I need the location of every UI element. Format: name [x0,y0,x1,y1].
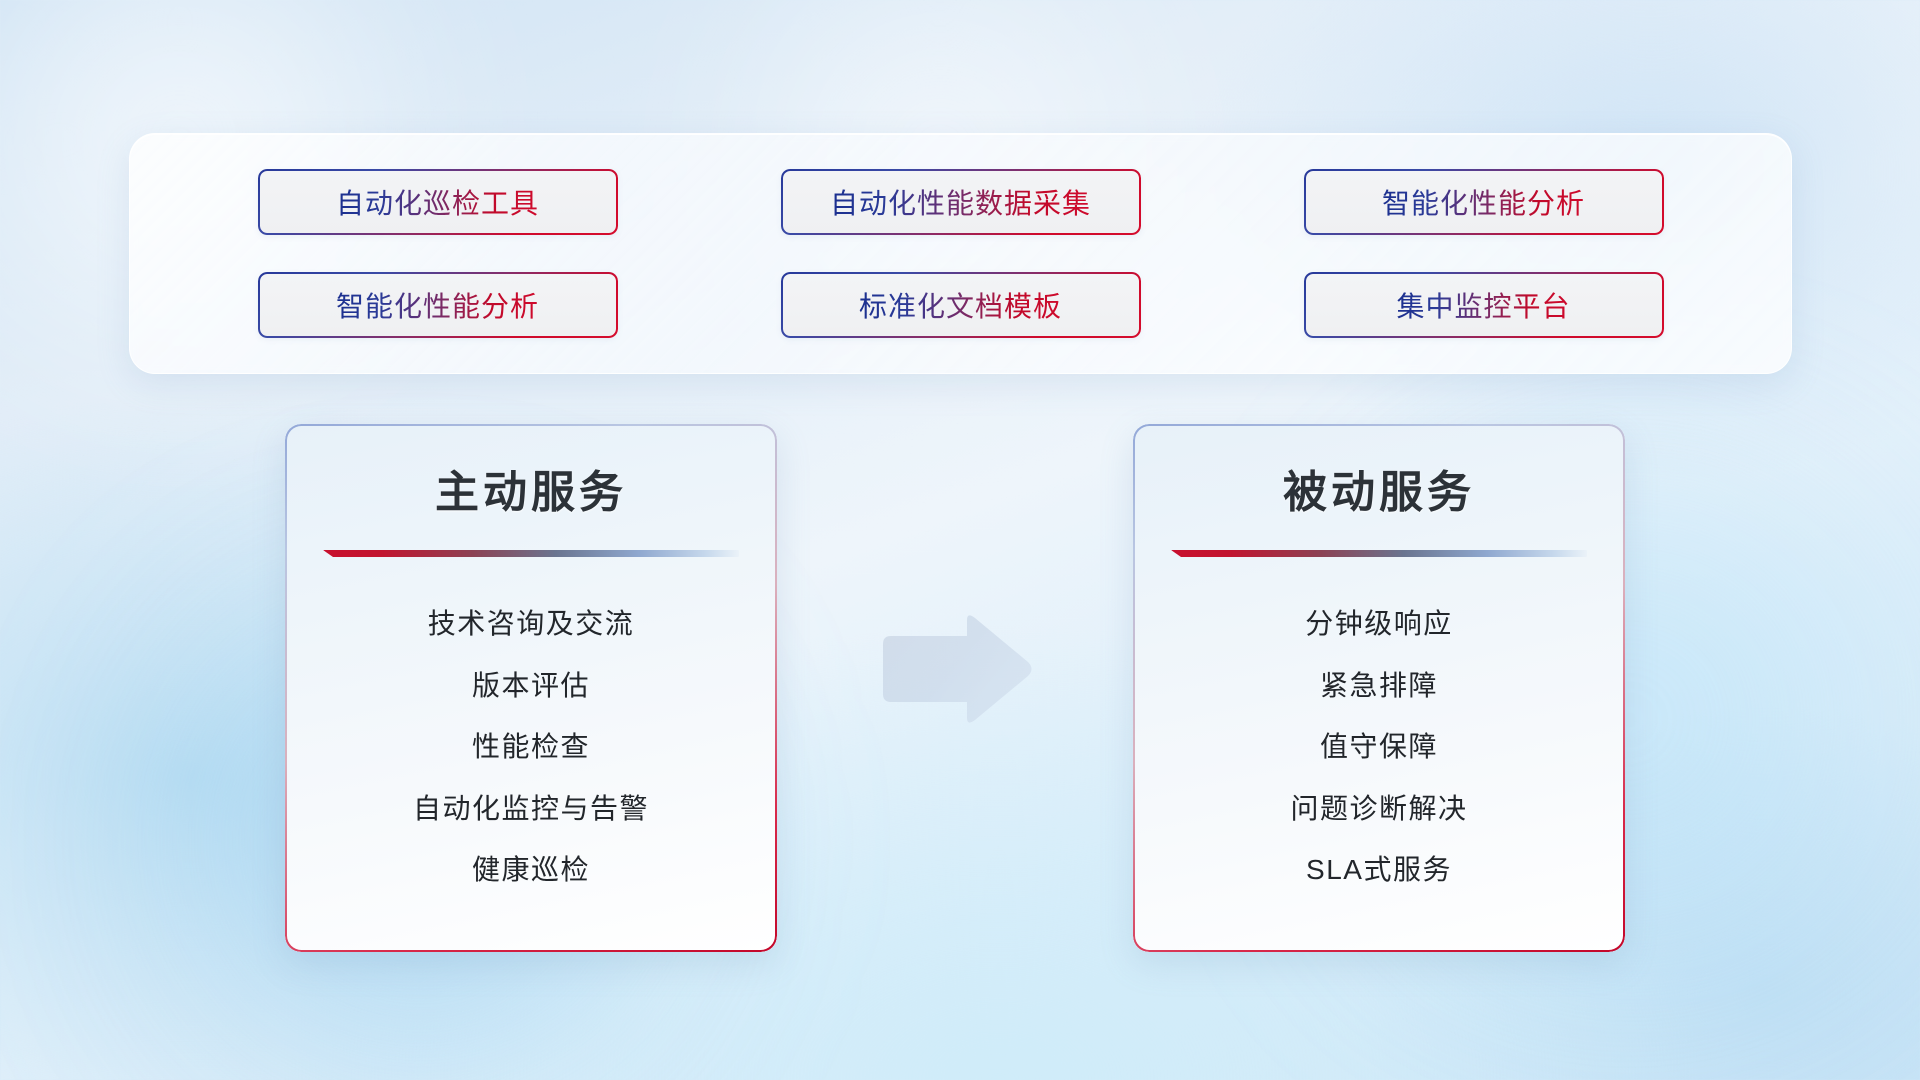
proactive-card-divider [323,550,739,557]
proactive-card-list: 技术咨询及交流 版本评估 性能检查 自动化监控与告警 健康巡检 [285,593,777,901]
list-item: 分钟级响应 [1133,593,1625,655]
list-item: 性能检查 [285,716,777,778]
list-item: 健康巡检 [285,839,777,901]
list-item: 技术咨询及交流 [285,593,777,655]
list-item: 问题诊断解决 [1133,778,1625,840]
list-item: 值守保障 [1133,716,1625,778]
capability-pill-label: 智能化性能分析 [1382,182,1585,222]
capability-pill-5[interactable]: 标准化文档模板 [781,272,1141,338]
capability-pill-2[interactable]: 自动化性能数据采集 [781,169,1141,235]
list-item: SLA式服务 [1133,839,1625,901]
arrow-right-icon [875,614,1035,724]
capability-pill-4[interactable]: 智能化性能分析 [258,272,618,338]
list-item: 自动化监控与告警 [285,778,777,840]
reactive-service-card: 被动服务 分钟级响应 紧急排障 值守保障 问题诊断解决 SLA式服务 [1133,424,1625,952]
capability-pill-label: 自动化性能数据采集 [830,182,1091,222]
list-item: 紧急排障 [1133,655,1625,717]
proactive-service-card: 主动服务 技术咨询及交流 版本评估 性能检查 自动化监控与告警 健康巡检 [285,424,777,952]
proactive-card-title: 主动服务 [285,456,777,520]
capability-pill-label: 标准化文档模板 [859,285,1062,325]
capability-pill-6[interactable]: 集中监控平台 [1304,272,1664,338]
capability-pill-3[interactable]: 智能化性能分析 [1304,169,1664,235]
capability-panel: 自动化巡检工具 自动化性能数据采集 智能化性能分析 智能化性能分析 标准化文档模… [129,133,1792,374]
capability-pill-label: 智能化性能分析 [336,285,539,325]
reactive-card-divider [1171,550,1587,557]
list-item: 版本评估 [285,655,777,717]
capability-pill-label: 自动化巡检工具 [336,182,539,222]
capability-pill-label: 集中监控平台 [1396,285,1570,325]
reactive-card-list: 分钟级响应 紧急排障 值守保障 问题诊断解决 SLA式服务 [1133,593,1625,901]
reactive-card-title: 被动服务 [1133,456,1625,520]
capability-pill-1[interactable]: 自动化巡检工具 [258,169,618,235]
